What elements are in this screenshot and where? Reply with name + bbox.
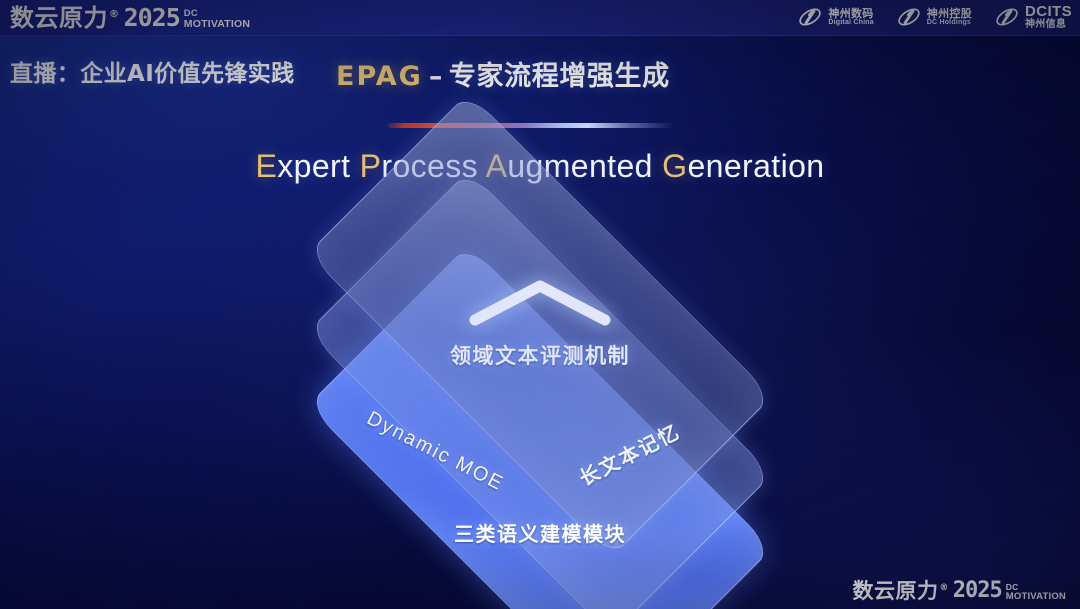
subtitle-word-generation: Generation xyxy=(662,148,824,184)
page-title-dash: – xyxy=(429,61,443,92)
partner-name-cn: 神州数码 xyxy=(828,8,873,20)
partner-name-en: DCITS xyxy=(1025,4,1072,20)
live-session-title: 直播：企业AI价值先锋实践 xyxy=(10,54,295,88)
subtitle-word-expert: Expert xyxy=(255,148,350,184)
event-logo-watermark-dc: DC MOTIVATION xyxy=(1006,583,1066,601)
event-logo-watermark: 数云原力® 2025 DC MOTIVATION xyxy=(852,580,1066,602)
event-logo-dc: DC MOTIVATION xyxy=(184,9,250,29)
event-logo-year: 2025 xyxy=(124,5,180,30)
layered-architecture-diagram: 领域文本评测机制 Dynamic MOE 长文本记忆 三类语义建模模块 xyxy=(290,228,790,568)
partner-name-cn: 神州控股 xyxy=(927,8,972,20)
partner-logo-text: 神州控股 DC Holdings xyxy=(927,8,972,27)
header-bar: 数云原力® 2025 DC MOTIVATION 神州数码 Digital Ch… xyxy=(0,0,1080,36)
slide-canvas: 数云原力® 2025 DC MOTIVATION 神州数码 Digital Ch… xyxy=(0,0,1080,609)
page-title-acronym: EPAG xyxy=(336,61,423,92)
partner-name-en: DC Holdings xyxy=(927,19,972,26)
swirl-logo-icon xyxy=(797,4,823,30)
partner-name-cn: 神州信息 xyxy=(1025,20,1072,31)
diagram-layer-top-label: 领域文本评测机制 xyxy=(450,340,630,370)
partner-logo-group: 神州数码 Digital China 神州控股 DC Holdings xyxy=(797,4,1072,30)
page-title-cn: 专家流程增强生成 xyxy=(449,61,670,92)
event-logo-watermark-cn: 数云原力® xyxy=(852,581,948,602)
chevron-up-icon xyxy=(467,276,613,328)
page-title: EPAG–专家流程增强生成 xyxy=(336,54,670,93)
partner-logo-dc-holdings: 神州控股 DC Holdings xyxy=(896,4,972,30)
event-logo-watermark-year: 2025 xyxy=(953,580,1002,602)
partner-logo-digital-china: 神州数码 Digital China xyxy=(797,4,873,30)
registered-mark-icon: ® xyxy=(109,9,120,20)
event-logo-cn: 数云原力® xyxy=(10,6,120,30)
event-logo-watermark-dc-line2: MOTIVATION xyxy=(1006,592,1066,601)
swirl-logo-icon xyxy=(994,4,1020,30)
partner-logo-dcits: DCITS 神州信息 xyxy=(994,4,1072,30)
swirl-logo-icon xyxy=(896,4,922,30)
title-divider xyxy=(388,123,674,128)
diagram-layer-bottom-label: 三类语义建模模块 xyxy=(454,518,626,547)
partner-logo-text: DCITS 神州信息 xyxy=(1025,4,1072,30)
event-logo-dc-line2: MOTIVATION xyxy=(184,19,250,29)
event-logo: 数云原力® 2025 DC MOTIVATION xyxy=(10,5,250,30)
partner-logo-text: 神州数码 Digital China xyxy=(828,8,873,27)
registered-mark-icon: ® xyxy=(939,583,948,593)
partner-name-en: Digital China xyxy=(828,19,873,26)
